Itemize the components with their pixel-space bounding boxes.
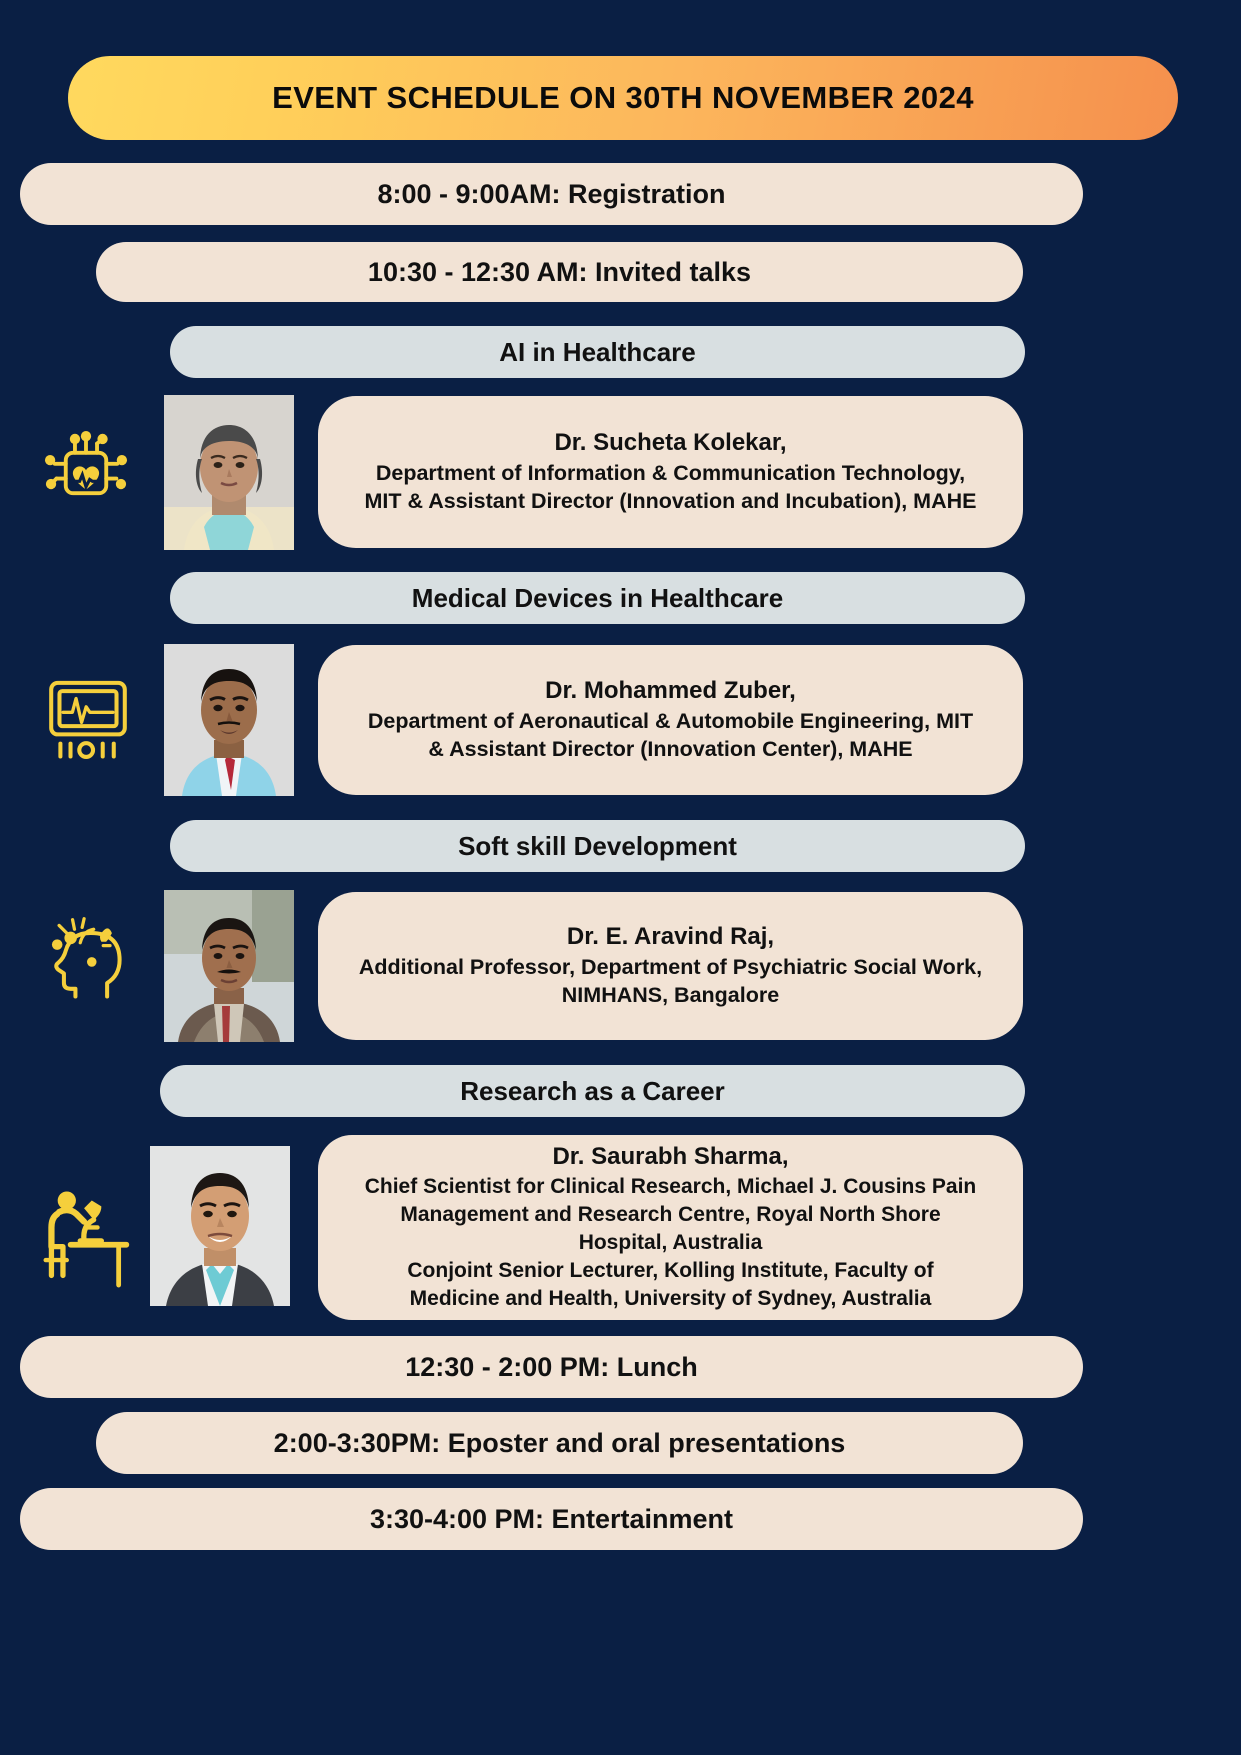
speaker-name: Dr. E. Aravind Raj, — [567, 922, 774, 953]
speaker-affiliation-line: Management and Research Centre, Royal No… — [400, 1201, 940, 1229]
speaker-name: Dr. Mohammed Zuber, — [545, 676, 796, 707]
speaker-affiliation-line: Department of Aeronautical & Automobile … — [368, 707, 973, 736]
session-topic-ai-in-healthcare: AI in Healthcare — [170, 326, 1025, 378]
speaker-name: Dr. Saurabh Sharma, — [552, 1142, 788, 1173]
session-topic-label: Soft skill Development — [458, 831, 737, 862]
speaker-detail-saurabh-sharma: Dr. Saurabh Sharma, Chief Scientist for … — [318, 1135, 1023, 1320]
speaker-affiliation-line: Department of Information & Communicatio… — [376, 459, 965, 488]
avatar-mohammed-zuber — [164, 644, 294, 796]
speaker-affiliation-line: Medicine and Health, University of Sydne… — [410, 1285, 932, 1313]
speaker-affiliation-line: Hospital, Australia — [579, 1229, 763, 1257]
session-topic-label: Medical Devices in Healthcare — [412, 583, 783, 614]
speaker-detail-e-aravind-raj: Dr. E. Aravind Raj, Additional Professor… — [318, 892, 1023, 1040]
schedule-label-lunch: 12:30 - 2:00 PM: Lunch — [405, 1352, 698, 1383]
speaker-affiliation-line: Conjoint Senior Lecturer, Kolling Instit… — [407, 1257, 933, 1285]
avatar-sucheta-kolekar — [164, 395, 294, 550]
vital-signs-monitor-icon — [40, 668, 136, 764]
speaker-affiliation-line: Chief Scientist for Clinical Research, M… — [365, 1173, 977, 1201]
speaker-affiliation-line: & Assistant Director (Innovation Center)… — [428, 735, 912, 764]
speaker-detail-mohammed-zuber: Dr. Mohammed Zuber, Department of Aerona… — [318, 645, 1023, 795]
schedule-label-entertainment: 3:30-4:00 PM: Entertainment — [370, 1504, 733, 1535]
event-schedule-poster: EVENT SCHEDULE ON 30TH NOVEMBER 2024 8:0… — [0, 0, 1241, 1755]
session-topic-label: AI in Healthcare — [499, 337, 696, 368]
session-topic-label: Research as a Career — [460, 1076, 725, 1107]
schedule-bar-registration: 8:00 - 9:00AM: Registration — [20, 163, 1083, 225]
schedule-bar-invited-talks: 10:30 - 12:30 AM: Invited talks — [96, 242, 1023, 302]
session-topic-research-as-a-career: Research as a Career — [160, 1065, 1025, 1117]
head-with-ideas-icon — [38, 912, 134, 1008]
avatar-e-aravind-raj — [164, 890, 294, 1042]
speaker-affiliation-line: MIT & Assistant Director (Innovation and… — [365, 487, 977, 516]
session-topic-medical-devices-in-healthcare: Medical Devices in Healthcare — [170, 572, 1025, 624]
schedule-label-invited-talks: 10:30 - 12:30 AM: Invited talks — [368, 257, 751, 288]
page-title: EVENT SCHEDULE ON 30TH NOVEMBER 2024 — [272, 80, 974, 116]
ai-chip-heartbeat-icon — [38, 425, 134, 521]
schedule-label-eposter: 2:00-3:30PM: Eposter and oral presentati… — [274, 1428, 846, 1459]
session-topic-soft-skill-development: Soft skill Development — [170, 820, 1025, 872]
schedule-bar-lunch: 12:30 - 2:00 PM: Lunch — [20, 1336, 1083, 1398]
avatar-saurabh-sharma — [150, 1146, 290, 1306]
schedule-label-registration: 8:00 - 9:00AM: Registration — [377, 179, 725, 210]
speaker-name: Dr. Sucheta Kolekar, — [554, 428, 786, 459]
speaker-affiliation-line: NIMHANS, Bangalore — [562, 981, 779, 1010]
speaker-affiliation-line: Additional Professor, Department of Psyc… — [359, 953, 982, 982]
speaker-detail-sucheta-kolekar: Dr. Sucheta Kolekar, Department of Infor… — [318, 396, 1023, 548]
schedule-bar-entertainment: 3:30-4:00 PM: Entertainment — [20, 1488, 1083, 1550]
poster-title-banner: EVENT SCHEDULE ON 30TH NOVEMBER 2024 — [68, 56, 1178, 140]
schedule-bar-eposter: 2:00-3:30PM: Eposter and oral presentati… — [96, 1412, 1023, 1474]
researcher-microscope-icon — [38, 1178, 134, 1298]
